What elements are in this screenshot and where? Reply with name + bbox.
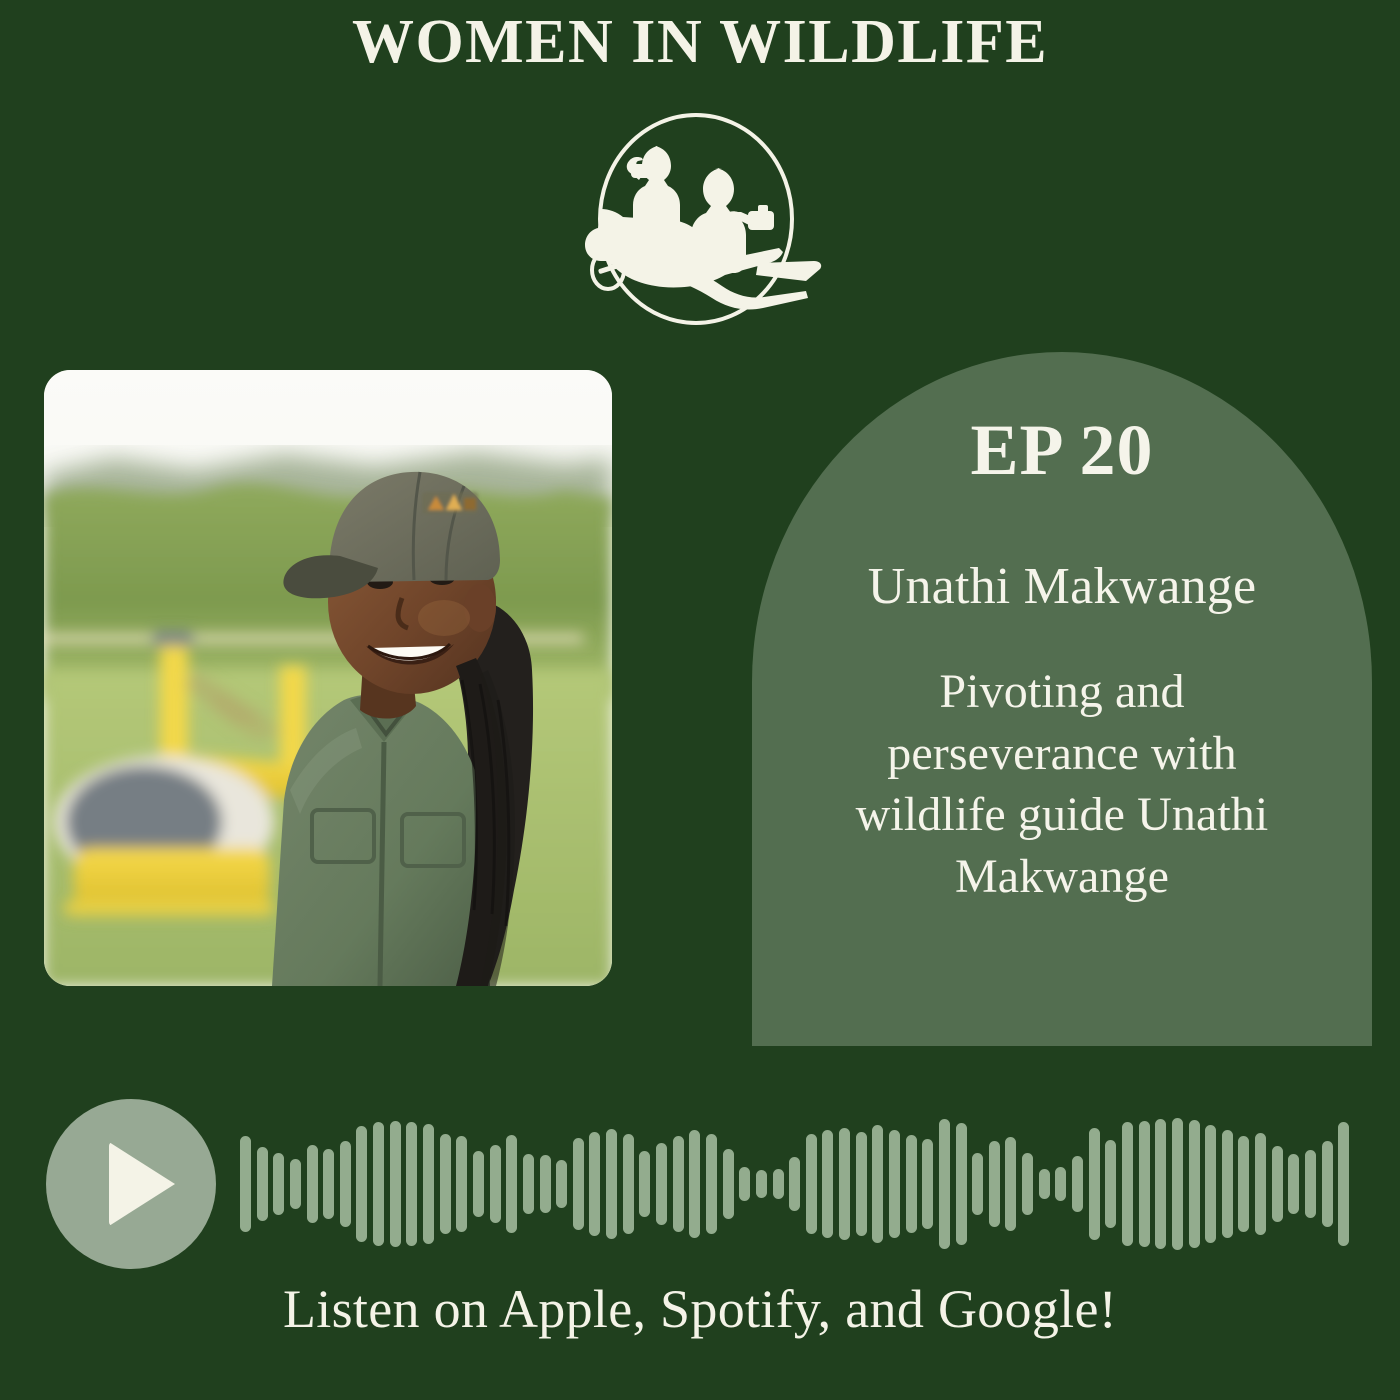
waveform-bar [390, 1121, 401, 1247]
waveform-bar [656, 1143, 667, 1225]
waveform-bar [1288, 1154, 1299, 1214]
waveform-bar [839, 1128, 850, 1240]
waveform-bar [789, 1157, 800, 1211]
waveform-bar [1222, 1130, 1233, 1238]
waveform-bar [972, 1153, 983, 1215]
play-triangle-icon [109, 1142, 175, 1226]
women-with-binoculars-badge-icon [562, 108, 830, 330]
waveform-bar [273, 1153, 284, 1215]
waveform-bar [806, 1134, 817, 1234]
waveform-bar [473, 1151, 484, 1217]
audio-player-row [0, 1098, 1400, 1270]
waveform-bar [540, 1155, 551, 1213]
waveform-bar [1122, 1122, 1133, 1246]
waveform-bar [639, 1151, 650, 1217]
podcast-episode-cover: WOMEN IN WILDLIFE [0, 0, 1400, 1400]
waveform-bar [1055, 1167, 1066, 1201]
waveform-bar [1022, 1153, 1033, 1215]
episode-info-panel: EP 20 Unathi Makwange Pivoting and perse… [752, 352, 1372, 1046]
waveform-bar [939, 1119, 950, 1249]
episode-description: Pivoting and perseverance with wildlife … [778, 661, 1346, 907]
waveform-bar [623, 1134, 634, 1234]
waveform-bar [1255, 1133, 1266, 1235]
guest-name: Unathi Makwange [778, 558, 1346, 615]
waveform-bar [673, 1136, 684, 1232]
waveform-bar [689, 1130, 700, 1238]
waveform-bar [906, 1135, 917, 1233]
waveform-bar [290, 1159, 301, 1209]
waveform-bar [1272, 1146, 1283, 1222]
waveform-bar [989, 1141, 1000, 1227]
play-button[interactable] [46, 1099, 216, 1269]
waveform-bar [323, 1149, 334, 1219]
waveform-bar [1072, 1156, 1083, 1212]
waveform-bar [1155, 1119, 1166, 1249]
waveform-bar [822, 1130, 833, 1238]
waveform-bar [706, 1134, 717, 1234]
waveform-bar [1172, 1118, 1183, 1250]
waveform-bar [490, 1145, 501, 1223]
waveform-bar [723, 1149, 734, 1219]
waveform-bar [773, 1169, 784, 1199]
waveform-bar [872, 1125, 883, 1243]
waveform-bar [1189, 1120, 1200, 1248]
waveform-bar [1089, 1128, 1100, 1240]
waveform-bar [257, 1147, 268, 1221]
waveform-bar [356, 1126, 367, 1242]
waveform-bar [1238, 1136, 1249, 1232]
waveform-bar [1322, 1141, 1333, 1227]
waveform-bar [1305, 1150, 1316, 1218]
waveform-bar [373, 1122, 384, 1246]
waveform-bar [440, 1134, 451, 1234]
audio-waveform-icon[interactable] [240, 1098, 1350, 1270]
waveform-bar [956, 1123, 967, 1245]
waveform-bar [240, 1136, 251, 1232]
waveform-bar [606, 1129, 617, 1239]
episode-number: EP 20 [778, 414, 1346, 486]
waveform-bar [922, 1139, 933, 1229]
waveform-bar [889, 1130, 900, 1238]
waveform-bar [1139, 1121, 1150, 1247]
waveform-bar [856, 1132, 867, 1236]
waveform-bar [456, 1136, 467, 1232]
waveform-bar [756, 1170, 767, 1198]
listen-caption: Listen on Apple, Spotify, and Google! [0, 1278, 1400, 1340]
waveform-bar [739, 1167, 750, 1201]
show-title: WOMEN IN WILDLIFE [0, 8, 1400, 76]
waveform-bar [1005, 1137, 1016, 1231]
waveform-bar [506, 1135, 517, 1233]
waveform-bar [1039, 1169, 1050, 1199]
waveform-bar [573, 1138, 584, 1230]
waveform-bar [1338, 1122, 1349, 1246]
waveform-bar [523, 1154, 534, 1214]
waveform-bar [1105, 1140, 1116, 1228]
waveform-bar [307, 1145, 318, 1223]
waveform-bar [556, 1160, 567, 1208]
waveform-bar [340, 1141, 351, 1227]
waveform-bar [423, 1124, 434, 1244]
waveform-bar [589, 1132, 600, 1236]
waveform-bar [1205, 1125, 1216, 1243]
waveform-bar [406, 1122, 417, 1246]
guest-portrait-photo [44, 370, 612, 986]
